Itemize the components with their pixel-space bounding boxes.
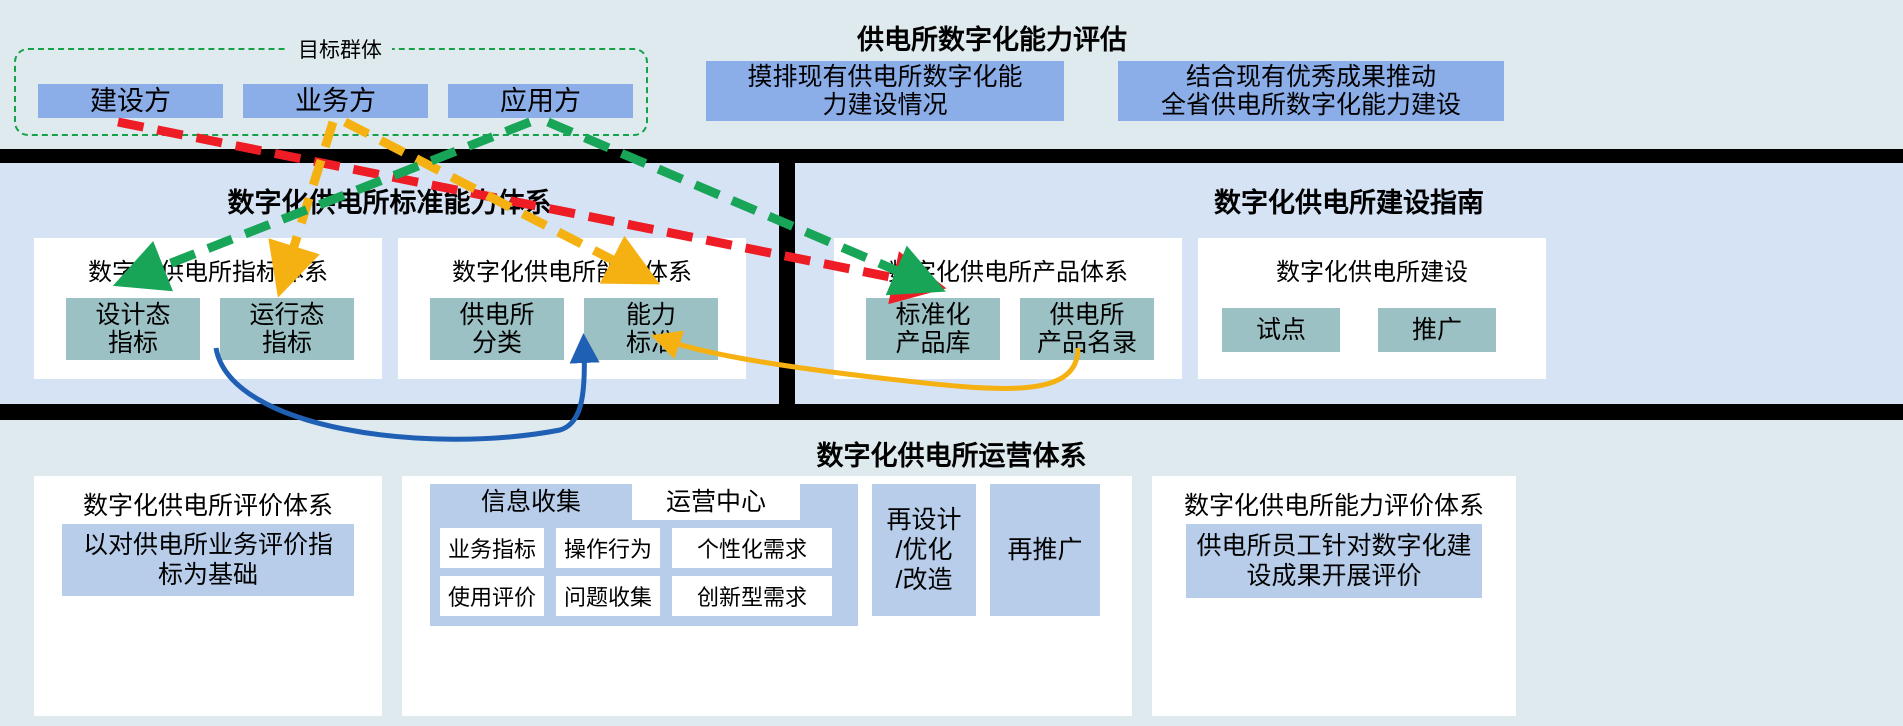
goal-box-1[interactable]: 结合现有优秀成果推动全省供电所数字化能力建设 bbox=[1118, 61, 1504, 121]
panel-right-title: 数字化供电所建设指南 bbox=[795, 181, 1903, 220]
item-runtime-indicator[interactable]: 运行态指标 bbox=[220, 298, 354, 360]
divider-top bbox=[0, 149, 1903, 163]
label-info-collection-top: 信息收集 bbox=[430, 484, 632, 520]
card-evaluation-system-title: 数字化供电所评价体系 bbox=[34, 486, 382, 522]
redesign-box[interactable]: 再设计/优化/改造 bbox=[872, 484, 976, 616]
target-group-label: 目标群体 bbox=[288, 34, 392, 64]
divider-vertical bbox=[779, 149, 795, 420]
card-operation-center: 信息收集 运营中心 信息收集 业务指标 操作行为 使用评价 问题收集 个性化需求… bbox=[402, 476, 1132, 716]
panel-left-title: 数字化供电所标准能力体系 bbox=[0, 181, 779, 220]
ops-item-1[interactable]: 操作行为 bbox=[556, 528, 660, 568]
panel-operation-system: 数字化供电所运营体系 数字化供电所评价体系 以对供电所业务评价指标为基础 信息收… bbox=[0, 420, 1903, 726]
ops-item-0[interactable]: 业务指标 bbox=[440, 528, 544, 568]
target-group-item-2[interactable]: 应用方 bbox=[448, 84, 633, 118]
item-pilot[interactable]: 试点 bbox=[1222, 308, 1340, 352]
item-design-indicator[interactable]: 设计态指标 bbox=[66, 298, 200, 360]
card-evaluation-system: 数字化供电所评价体系 以对供电所业务评价指标为基础 bbox=[34, 476, 382, 716]
item-product-catalog[interactable]: 供电所产品名录 bbox=[1020, 298, 1154, 360]
panel-bottom-title: 数字化供电所运营体系 bbox=[0, 434, 1903, 473]
ops-item-3[interactable]: 问题收集 bbox=[556, 576, 660, 616]
card-ability-evaluation: 数字化供电所能力评价体系 供电所员工针对数字化建设成果开展评价 bbox=[1152, 476, 1516, 716]
evaluation-basis-text: 以对供电所业务评价指标为基础 bbox=[62, 524, 354, 596]
panel-construction-guide: 数字化供电所建设指南 数字化供电所产品体系 标准化产品库 供电所产品名录 数字化… bbox=[795, 163, 1903, 404]
target-group-item-1[interactable]: 业务方 bbox=[243, 84, 428, 118]
page-title: 供电所数字化能力评估 bbox=[648, 18, 1336, 57]
item-capability-standard[interactable]: 能力标准 bbox=[584, 298, 718, 360]
item-station-category[interactable]: 供电所分类 bbox=[430, 298, 564, 360]
card-indicator-system: 数字化供电所指标体系 设计态指标 运行态指标 bbox=[34, 238, 382, 379]
diagram-root: 目标群体 建设方 业务方 应用方 供电所数字化能力评估 摸排现有供电所数字化能力… bbox=[0, 0, 1903, 726]
ability-evaluation-body: 供电所员工针对数字化建设成果开展评价 bbox=[1186, 524, 1482, 598]
demand-item-0[interactable]: 个性化需求 bbox=[672, 528, 832, 568]
card-product-system: 数字化供电所产品体系 标准化产品库 供电所产品名录 bbox=[834, 238, 1182, 379]
card-capability-system: 数字化供电所能力体系 供电所分类 能力标准 bbox=[398, 238, 746, 379]
card-product-system-title: 数字化供电所产品体系 bbox=[834, 252, 1182, 287]
card-indicator-system-title: 数字化供电所指标体系 bbox=[34, 252, 382, 287]
ops-item-2[interactable]: 使用评价 bbox=[440, 576, 544, 616]
card-construction-title: 数字化供电所建设 bbox=[1198, 252, 1546, 287]
panel-standard-capability: 数字化供电所标准能力体系 数字化供电所指标体系 设计态指标 运行态指标 数字化供… bbox=[0, 163, 779, 404]
card-ability-evaluation-title: 数字化供电所能力评价体系 bbox=[1152, 486, 1516, 522]
label-operation-center: 运营中心 bbox=[632, 480, 800, 520]
repromote-box[interactable]: 再推广 bbox=[990, 484, 1100, 616]
divider-middle bbox=[0, 404, 1903, 420]
item-promotion[interactable]: 推广 bbox=[1378, 308, 1496, 352]
goal-box-0[interactable]: 摸排现有供电所数字化能力建设情况 bbox=[706, 61, 1064, 121]
item-standard-product-library[interactable]: 标准化产品库 bbox=[866, 298, 1000, 360]
card-capability-system-title: 数字化供电所能力体系 bbox=[398, 252, 746, 287]
demand-item-1[interactable]: 创新型需求 bbox=[672, 576, 832, 616]
target-group-item-0[interactable]: 建设方 bbox=[38, 84, 223, 118]
card-construction: 数字化供电所建设 试点 推广 bbox=[1198, 238, 1546, 379]
